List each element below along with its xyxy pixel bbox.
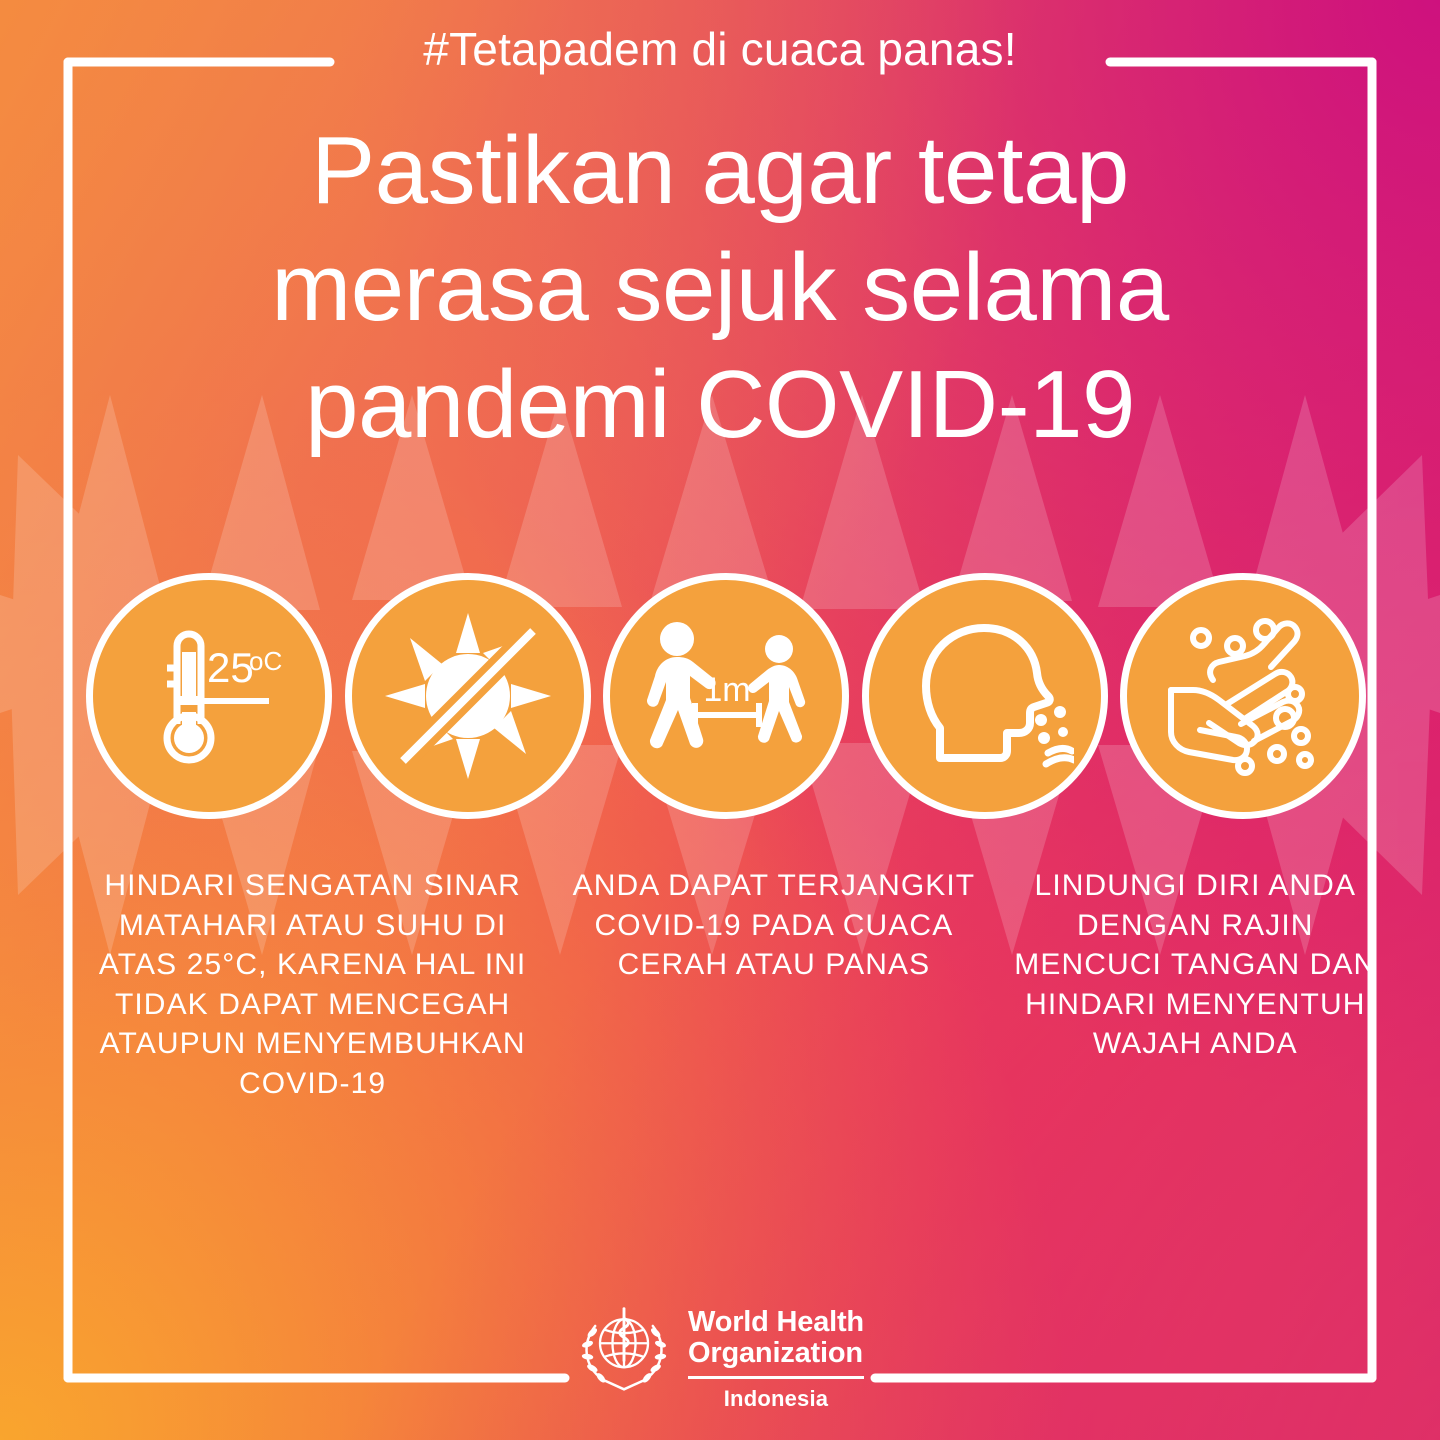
caption-2: Anda dapat terjangkit COVID-19 pada cuac… [559, 866, 988, 985]
no-sun-icon [345, 573, 591, 819]
physical-distance-icon: 1m [603, 573, 849, 819]
handwash-icon [1120, 573, 1366, 819]
headline-line-2: merasa sejuk selama [160, 229, 1280, 346]
sneeze-head-icon [862, 573, 1108, 819]
who-divider [688, 1376, 864, 1379]
headline-line-1: Pastikan agar tetap [160, 112, 1280, 229]
thermometer-unit: oC [249, 646, 282, 676]
who-name-line-1: World Health [688, 1307, 864, 1338]
who-logo-block: World Health Organization Indonesia [0, 1301, 1440, 1412]
page-title: Pastikan agar tetap merasa sejuk selama … [160, 112, 1280, 463]
caption-3: Lindungi diri Anda dengan rajin mencuci … [1011, 866, 1380, 1064]
hashtag-text: #Tetapadem di cuaca panas! [0, 22, 1440, 76]
thermometer-value: 25 [207, 644, 254, 691]
caption-row: Hindari sengatan sinar matahari atau suh… [60, 866, 1380, 1104]
who-country-label: Indonesia [688, 1386, 864, 1412]
icon-row: 25 oC [86, 572, 1366, 820]
distance-label: 1m [703, 671, 750, 709]
who-name-line-2: Organization [688, 1338, 864, 1369]
thermometer-icon: 25 oC [86, 573, 332, 819]
who-emblem-icon [576, 1301, 672, 1397]
caption-1: Hindari sengatan sinar matahari atau suh… [78, 866, 547, 1104]
headline-line-3: pandemi COVID-19 [160, 346, 1280, 463]
poster-canvas: #Tetapadem di cuaca panas! Pastikan agar… [0, 0, 1440, 1440]
